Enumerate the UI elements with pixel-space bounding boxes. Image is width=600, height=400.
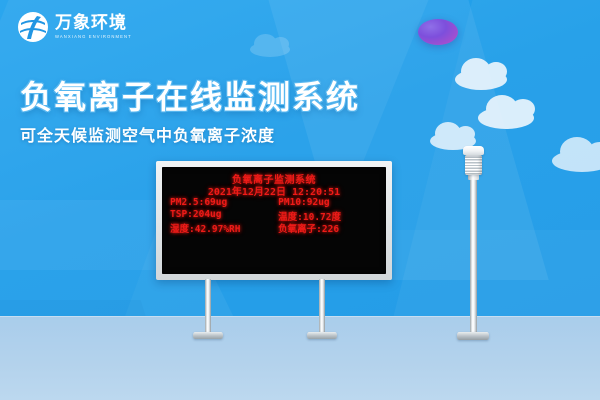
billboard-base-plate-right [307, 332, 337, 339]
swirl-globe-icon [18, 12, 48, 42]
billboard-support-pole-left [205, 279, 211, 335]
led-screen: 负氧离子监测系统 2021年12月22日 12:20:51 PM2.5:69ug… [162, 167, 386, 274]
sensor-mast [470, 178, 477, 336]
billboard-support-pole-right [319, 279, 325, 335]
brand-name-en: WANXIANG ENVIRONMENT [55, 35, 132, 39]
sensor-cap [463, 146, 484, 155]
cloud-decoration [455, 69, 507, 90]
horizon-line [0, 316, 600, 317]
cloud-decoration [478, 107, 534, 129]
air-ion-sensor-head [465, 155, 482, 175]
led-billboard: 负氧离子监测系统 2021年12月22日 12:20:51 PM2.5:69ug… [156, 161, 392, 280]
purple-orb-decoration [418, 19, 458, 45]
ground-plane [0, 316, 600, 400]
brand-name-cn: 万象环境 [55, 15, 132, 32]
led-reading-pm25: PM2.5:69ug [170, 197, 278, 208]
cloud-decoration [250, 42, 290, 57]
led-reading-negative-ion: 负氧离子:226 [278, 221, 378, 235]
billboard-base-plate-left [193, 332, 223, 339]
brand-logo-text: 万象环境 WANXIANG ENVIRONMENT [55, 15, 132, 39]
led-reading-pm10: PM10:92ug [278, 197, 378, 208]
led-datetime: 2021年12月22日 12:20:51 [162, 183, 386, 198]
brand-logo: 万象环境 WANXIANG ENVIRONMENT [18, 12, 132, 42]
swirl-globe-glyph [18, 12, 48, 42]
page-subtitle: 可全天候监测空气中负氧离子浓度 [20, 122, 275, 146]
page-title: 负氧离子在线监测系统 [20, 72, 360, 118]
led-reading-row: 湿度:42.97%RH 负氧离子:226 [170, 221, 378, 235]
promo-banner: 万象环境 WANXIANG ENVIRONMENT 负氧离子在线监测系统 可全天… [0, 0, 600, 400]
led-reading-humidity: 湿度:42.97%RH [170, 221, 278, 235]
sensor-mast-base-plate [457, 332, 489, 340]
led-reading-row: PM2.5:69ug PM10:92ug [170, 197, 378, 208]
